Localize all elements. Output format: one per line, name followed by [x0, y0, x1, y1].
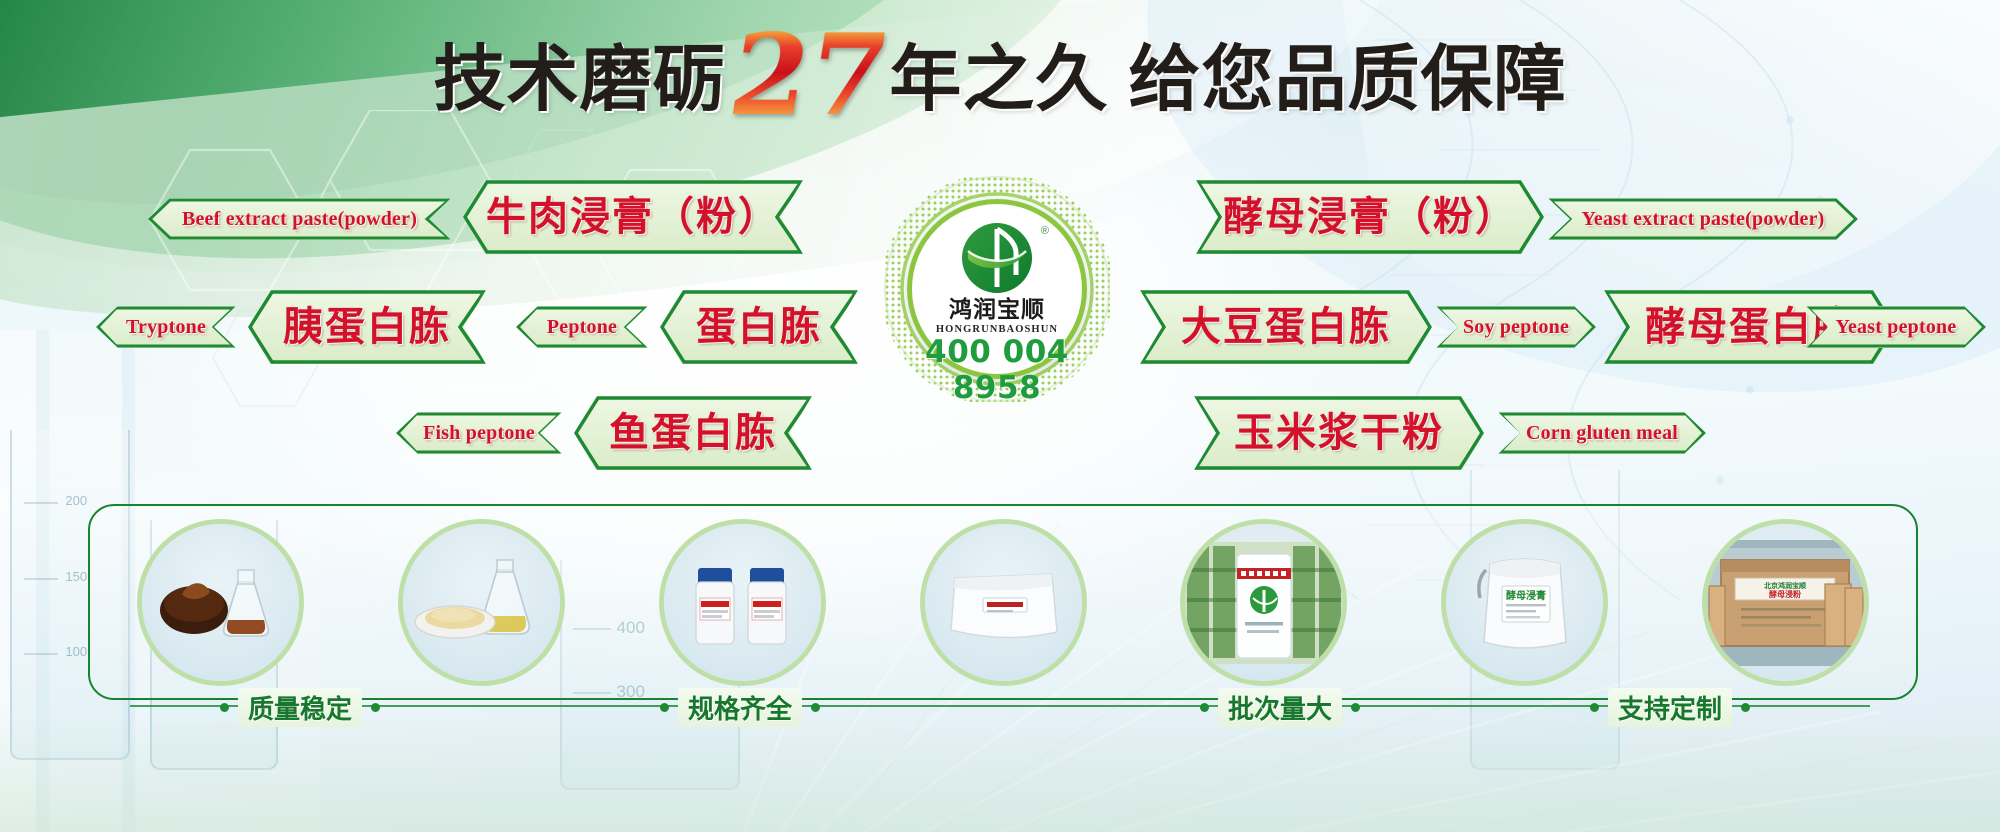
label-en-yeast-peptone[interactable]: Yeast peptone	[1806, 306, 1986, 348]
showcase-cell[interactable]: 北京鸿润宝顺 酵母浸粉	[1655, 506, 1916, 698]
bullet-dot-icon	[1741, 703, 1750, 712]
bullet-dot-icon	[1200, 703, 1209, 712]
label-cn-tryptone[interactable]: 胰蛋白胨	[248, 290, 486, 364]
headline-part1: 技术磨砺	[434, 20, 726, 125]
feature-caption-1: 质量稳定	[220, 688, 380, 727]
bullet-dot-icon	[1590, 703, 1599, 712]
label-en-yeast-extract[interactable]: Yeast extract paste(powder)	[1548, 198, 1858, 240]
showcase-cell[interactable]: 酵母浸膏	[1394, 506, 1655, 698]
bottom-green-wash	[0, 712, 2000, 832]
feature-caption-chain: 质量稳定 规格齐全 批次量大 支持定制	[100, 688, 1900, 724]
showcase-cell[interactable]	[1133, 506, 1394, 698]
hexagon-molecule-watermark	[120, 110, 840, 440]
headline-part2: 年之久	[889, 20, 1108, 125]
showcase-cell[interactable]	[90, 506, 351, 698]
label-cn-peptone[interactable]: 蛋白胨	[660, 290, 858, 364]
feature-caption-2: 规格齐全	[660, 688, 820, 727]
powder-dish-flask-thumb	[403, 524, 560, 681]
company-logo-badge[interactable]: ® 鸿润宝顺 HONGRUNBAOSHUN 400 004 8958	[884, 176, 1110, 402]
headline: 技术磨砺 27 年之久 给您品质保障	[0, 26, 2000, 118]
feature-caption-4: 支持定制	[1590, 688, 1750, 727]
white-barrel-thumb: 酵母浸膏	[1446, 524, 1603, 681]
label-cn-corn-gluten[interactable]: 玉米浆干粉	[1194, 396, 1484, 470]
label-en-fish-peptone[interactable]: Fish peptone	[396, 412, 562, 454]
logo-company-name-cn: 鸿润宝顺	[949, 298, 1045, 321]
two-reagent-bottles-thumb	[664, 524, 821, 681]
label-cn-yeast-extract[interactable]: 酵母浸膏（粉）	[1196, 180, 1544, 254]
hongrunbaoshun-mark-icon: ®	[960, 221, 1034, 295]
headline-part3: 给您品质保障	[1128, 20, 1566, 125]
bullet-dot-icon	[811, 703, 820, 712]
showcase-cell[interactable]	[351, 506, 612, 698]
svg-text:酵母浸粉: 酵母浸粉	[1769, 589, 1801, 599]
hotline-number: 400 004 8958	[884, 334, 1110, 406]
label-en-beef-extract[interactable]: Beef extract paste(powder)	[148, 198, 451, 240]
label-en-soy-peptone[interactable]: Soy peptone	[1436, 306, 1596, 348]
label-cn-soy-peptone[interactable]: 大豆蛋白胨	[1140, 290, 1432, 364]
bullet-dot-icon	[371, 703, 380, 712]
woven-sacks-pallet-thumb	[1185, 524, 1342, 681]
bullet-dot-icon	[220, 703, 229, 712]
label-en-corn-gluten[interactable]: Corn gluten meal	[1498, 412, 1706, 454]
product-showcase-panel: 酵母浸膏	[88, 504, 1918, 700]
banner-stage: 200 150 100 400 300	[0, 0, 2000, 832]
label-cn-fish-peptone[interactable]: 鱼蛋白胨	[574, 396, 812, 470]
white-foil-pouch-thumb	[925, 524, 1082, 681]
bullet-dot-icon	[660, 703, 669, 712]
svg-text:酵母浸膏: 酵母浸膏	[1506, 589, 1546, 602]
registered-mark-icon: ®	[1041, 225, 1049, 237]
carton-boxes-thumb: 北京鸿润宝顺 酵母浸粉	[1707, 524, 1864, 681]
headline-number: 27	[724, 30, 894, 122]
showcase-cell[interactable]	[612, 506, 873, 698]
beaker-dark-extract-thumb	[142, 524, 299, 681]
feature-caption-3: 批次量大	[1200, 688, 1360, 727]
label-cn-beef-extract[interactable]: 牛肉浸膏（粉）	[463, 180, 803, 254]
bullet-dot-icon	[1351, 703, 1360, 712]
showcase-cell[interactable]	[873, 506, 1134, 698]
